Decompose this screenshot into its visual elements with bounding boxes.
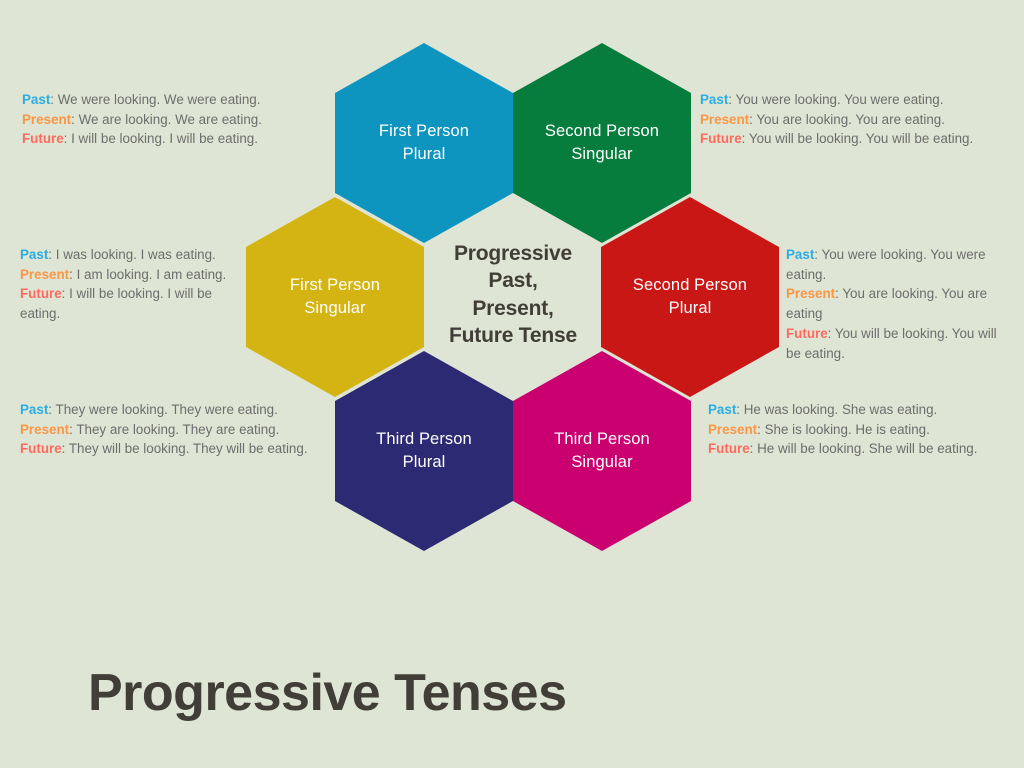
hexagon-label: Second Person Plural xyxy=(633,274,747,320)
label-future: Future xyxy=(20,286,62,301)
label-future: Future xyxy=(20,441,62,456)
note-line-future: Future: You will be looking. You will be… xyxy=(700,129,1000,149)
label-past: Past xyxy=(786,247,814,262)
note-line-present: Present: They are looking. They are eati… xyxy=(20,420,340,440)
label-past: Past xyxy=(708,402,736,417)
note-sentence-future: I will be looking. I will be eating. xyxy=(67,131,258,146)
note-sentence-future: You will be looking. You will be eating. xyxy=(745,131,973,146)
infographic-canvas: First Person Plural Second Person Singul… xyxy=(0,0,1024,768)
label-present: Present xyxy=(20,267,69,282)
note-sentence-future: He will be looking. She will be eating. xyxy=(753,441,977,456)
note-sentence-present: She is looking. He is eating. xyxy=(761,422,930,437)
note-sentence-past: I was looking. I was eating. xyxy=(52,247,216,262)
label-present: Present xyxy=(708,422,757,437)
center-caption: Progressive Past, Present, Future Tense xyxy=(424,240,602,349)
hexagon-label: Third Person Plural xyxy=(376,428,472,474)
note-line-present: Present: We are looking. We are eating. xyxy=(22,110,322,130)
hexagon-label: First Person Singular xyxy=(290,274,380,320)
note-sentence-future: They will be looking. They will be eatin… xyxy=(65,441,307,456)
note-line-past: Past: You were looking. You were eating. xyxy=(700,90,1000,110)
note-sentence-present: You are looking. You are eating. xyxy=(753,112,945,127)
label-present: Present xyxy=(700,112,749,127)
note-line-present: Present: You are looking. You are eating… xyxy=(700,110,1000,130)
note-sentence-past: You were looking. You were eating. xyxy=(732,92,943,107)
note-line-future: Future: They will be looking. They will … xyxy=(20,439,340,459)
label-future: Future xyxy=(700,131,742,146)
note-line-past: Past: We were looking. We were eating. xyxy=(22,90,322,110)
note-third-person-singular: Past: He was looking. She was eating. Pr… xyxy=(708,400,998,459)
note-line-future: Future: He will be looking. She will be … xyxy=(708,439,998,459)
label-future: Future xyxy=(708,441,750,456)
label-present: Present xyxy=(22,112,71,127)
note-line-past: Past: I was looking. I was eating. xyxy=(20,245,252,265)
note-line-past: Past: He was looking. She was eating. xyxy=(708,400,998,420)
note-line-present: Present: I am looking. I am eating. xyxy=(20,265,252,285)
note-third-person-plural: Past: They were looking. They were eatin… xyxy=(20,400,340,459)
note-line-future: Future: I will be looking. I will be eat… xyxy=(20,284,252,323)
note-sentence-past: We were looking. We were eating. xyxy=(54,92,260,107)
label-past: Past xyxy=(700,92,728,107)
note-line-future: Future: I will be looking. I will be eat… xyxy=(22,129,322,149)
label-past: Past xyxy=(20,402,48,417)
note-first-person-singular: Past: I was looking. I was eating. Prese… xyxy=(20,245,252,324)
note-sentence-present: They are looking. They are eating. xyxy=(73,422,279,437)
note-sentence-present: We are looking. We are eating. xyxy=(75,112,262,127)
note-line-present: Present: She is looking. He is eating. xyxy=(708,420,998,440)
note-line-present: Present: You are looking. You are eating xyxy=(786,284,1004,323)
hexagon-label: First Person Plural xyxy=(379,120,469,166)
note-line-past: Past: They were looking. They were eatin… xyxy=(20,400,340,420)
label-future: Future xyxy=(22,131,64,146)
note-sentence-present: I am looking. I am eating. xyxy=(73,267,226,282)
label-present: Present xyxy=(20,422,69,437)
note-second-person-plural: Past: You were looking. You were eating.… xyxy=(786,245,1004,363)
note-sentence-past: He was looking. She was eating. xyxy=(740,402,937,417)
hexagon-label: Second Person Singular xyxy=(545,120,659,166)
note-line-past: Past: You were looking. You were eating. xyxy=(786,245,1004,284)
page-title: Progressive Tenses xyxy=(88,663,567,723)
hexagon-label: Third Person Singular xyxy=(554,428,650,474)
label-past: Past xyxy=(22,92,50,107)
label-past: Past xyxy=(20,247,48,262)
note-sentence-past: They were looking. They were eating. xyxy=(52,402,278,417)
note-second-person-singular: Past: You were looking. You were eating.… xyxy=(700,90,1000,149)
note-line-future: Future: You will be looking. You will be… xyxy=(786,324,1004,363)
label-present: Present xyxy=(786,286,835,301)
label-future: Future xyxy=(786,326,828,341)
note-first-person-plural: Past: We were looking. We were eating. P… xyxy=(22,90,322,149)
